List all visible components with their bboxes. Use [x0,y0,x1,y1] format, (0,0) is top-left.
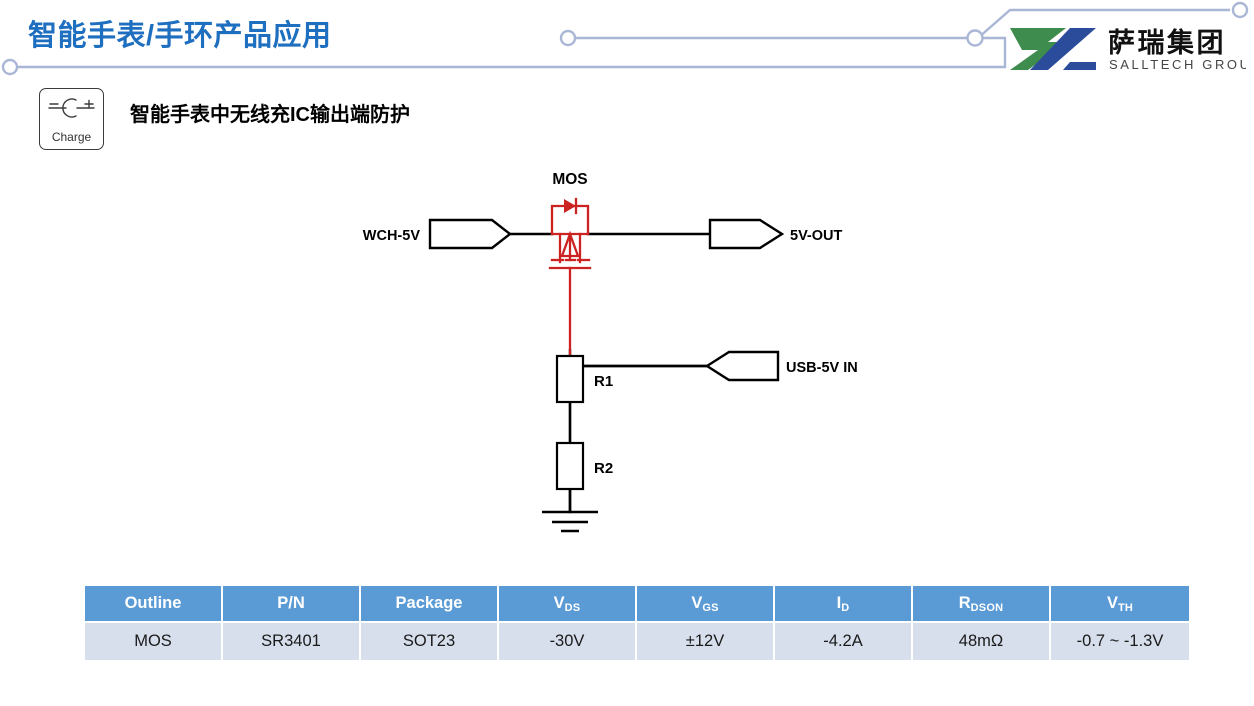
col-header-package: Package [361,586,499,621]
col-header-outline: Outline [85,586,223,621]
out-5v-label: 5V-OUT [790,228,843,244]
col-header-pn: P/N [223,586,361,621]
circuit-schematic: MOS WCH-5V 5V-OUT USB-5V IN [320,160,900,540]
col-header-vds: VDS [499,586,637,621]
logo-brand-cn: 萨瑞集团 [1108,27,1226,58]
page-title: 智能手表/手环产品应用 [28,12,332,54]
logo-brand-en: SALLTECH GROUP [1109,57,1246,72]
table-header-row: Outline P/N Package VDS VGS ID RDSON VTH [85,586,1189,621]
charge-battery-icon [40,93,103,123]
wch-5v-port-icon [430,220,510,248]
circle-node-icon [968,31,983,46]
schematic-mos-label: MOS [552,171,587,188]
body-diode-icon [564,199,576,213]
col-header-id: ID [775,586,913,621]
charge-badge-label: Charge [40,130,103,144]
cell-package: SOT23 [361,621,499,660]
out-5v-port-icon [710,220,782,248]
cell-vgs: ±12V [637,621,775,660]
wch-5v-label: WCH-5V [363,228,421,244]
charge-badge: Charge [39,88,104,150]
table-row: MOS SR3401 SOT23 -30V ±12V -4.2A 48mΩ -0… [85,621,1189,660]
resistor-r2-label: R2 [594,460,613,477]
cell-vds: -30V [499,621,637,660]
usb-5v-port-icon [707,352,778,380]
cell-vth: -0.7 ~ -1.3V [1051,621,1189,660]
resistor-r1-icon [557,356,583,402]
col-header-rdson: RDSON [913,586,1051,621]
cell-outline: MOS [85,621,223,660]
section-subtitle: 智能手表中无线充IC输出端防护 [130,98,410,127]
spec-table: Outline P/N Package VDS VGS ID RDSON VTH… [85,586,1189,660]
circle-node-icon [3,60,17,74]
cell-pn: SR3401 [223,621,361,660]
col-header-vgs: VGS [637,586,775,621]
cell-rdson: 48mΩ [913,621,1051,660]
circle-node-icon [561,31,575,45]
resistor-r2-icon [557,443,583,489]
resistor-r1-label: R1 [594,373,613,390]
ground-symbol-icon [542,489,598,531]
circle-node-icon [1233,3,1247,17]
usb-5v-label: USB-5V IN [786,360,858,376]
mosfet-symbol-icon [550,199,590,356]
logo-mark-icon [1010,28,1096,70]
cell-id: -4.2A [775,621,913,660]
col-header-vth: VTH [1051,586,1189,621]
company-logo: 萨瑞集团 SALLTECH GROUP [1008,22,1246,76]
